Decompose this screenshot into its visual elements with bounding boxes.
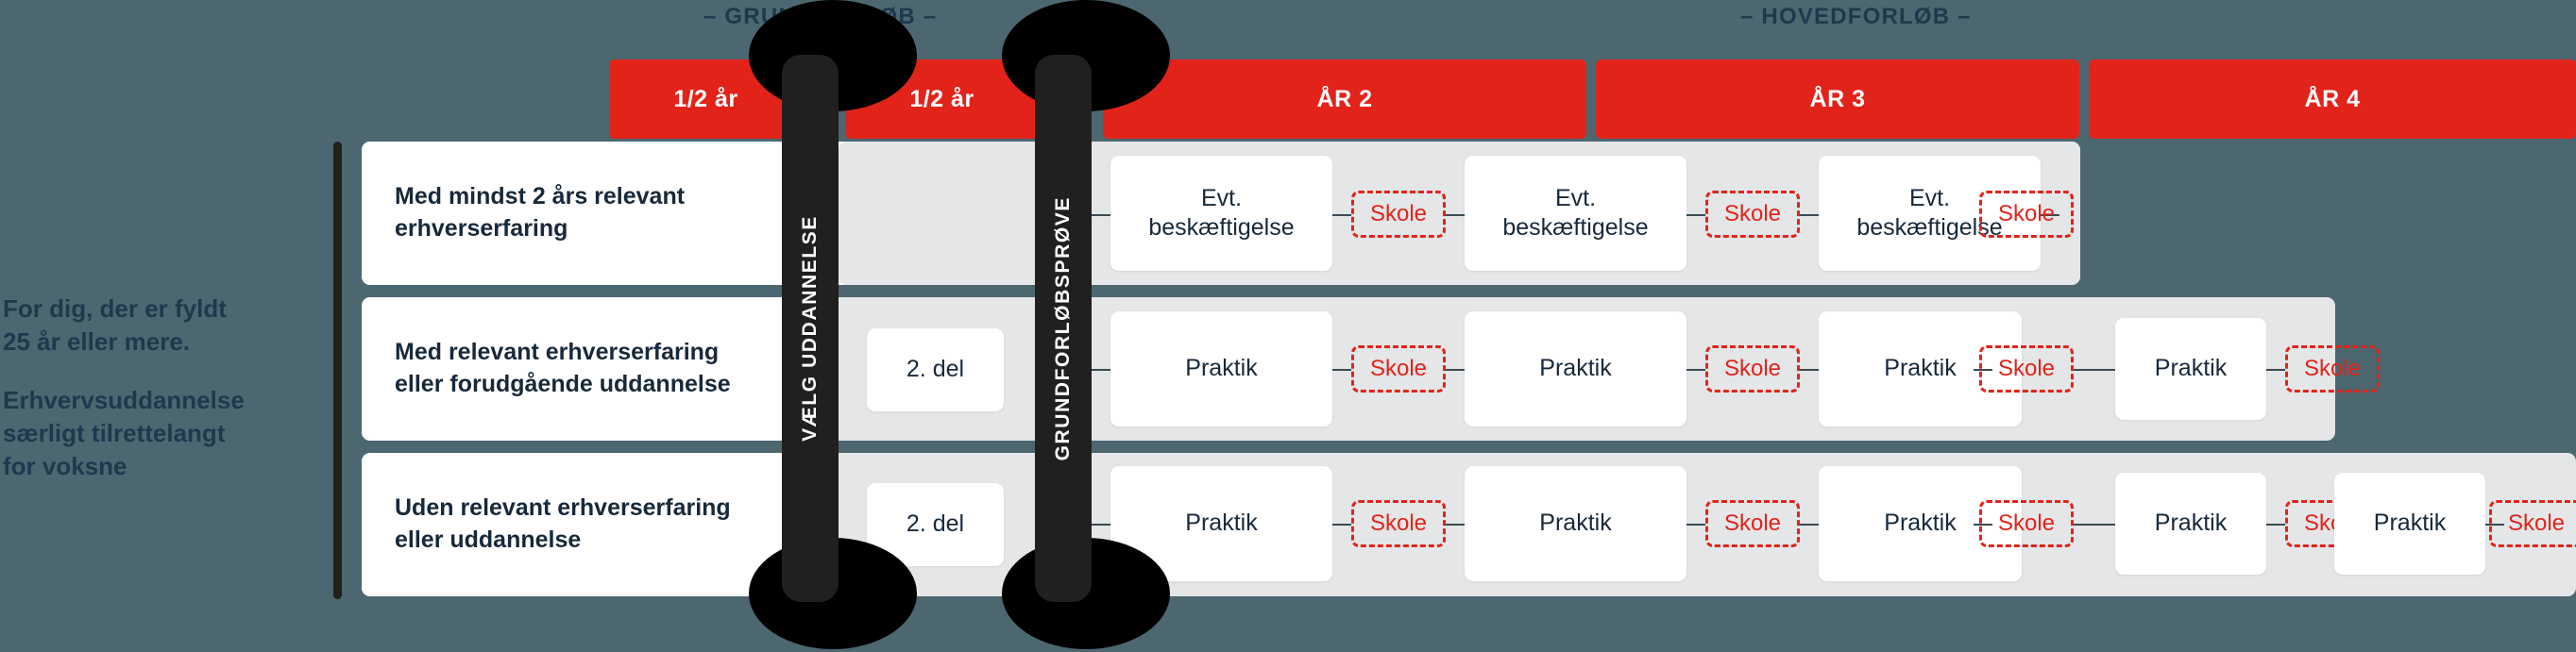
connector <box>1090 214 1112 216</box>
connector <box>1800 214 1819 216</box>
row-label-1-line-1: Med mindst 2 års relevant <box>395 181 685 213</box>
diagram-canvas: – GRUNDFORLØB – – HOVEDFORLØB – 1/2 år 1… <box>0 0 2576 652</box>
card-skole-3[interactable]: Skole <box>1979 191 2074 238</box>
connector <box>1090 524 1112 526</box>
sidebar-line-4: særligt tilrettelangt <box>3 417 314 450</box>
card-skole-2[interactable]: Skole <box>1705 191 1800 238</box>
card-skole-1[interactable]: Skole <box>1351 191 1446 238</box>
card-skole-r3-1[interactable]: Skole <box>1351 500 1446 547</box>
card-evt-beskaeftigelse-1[interactable]: Evt. beskæftigelse <box>1110 156 1332 271</box>
connector <box>1686 524 1705 526</box>
card-skole-r2-2[interactable]: Skole <box>1705 345 1800 393</box>
row-label-3-line-1: Uden relevant erhverserfaring <box>395 493 731 525</box>
card-line-1: Evt. <box>1148 184 1294 213</box>
card-line-1: Evt. <box>1502 184 1648 213</box>
card-praktik-r2-1[interactable]: Praktik <box>1110 311 1332 426</box>
row-label-3: Uden relevant erhverserfaring eller udda… <box>362 453 805 596</box>
card-praktik-r2-4[interactable]: Praktik <box>2115 318 2266 420</box>
connector <box>1800 524 1819 526</box>
card-line-2: beskæftigelse <box>1148 213 1294 242</box>
connector <box>1446 214 1465 216</box>
gate-vaelg-uddannelse[interactable]: VÆLG UDDANNELSE <box>782 55 839 602</box>
card-skole-r2-4[interactable]: Skole <box>2285 345 2380 393</box>
sidebar-line-1: For dig, der er fyldt <box>3 293 314 326</box>
connector <box>1800 369 1819 371</box>
period-bar-4: ÅR 3 <box>1596 59 2079 139</box>
card-second-part-row2[interactable]: 2. del <box>867 328 1004 411</box>
row-label-2-line-2: eller forudgående uddannelse <box>395 369 731 401</box>
card-praktik-r3-5[interactable]: Praktik <box>2334 473 2485 575</box>
gate-grundforloebsproeve[interactable]: GRUNDFORLØBSPRØVE <box>1035 55 1092 602</box>
row-label-2-line-1: Med relevant erhverserfaring <box>395 337 731 369</box>
row-label-3-line-2: eller uddannelse <box>395 525 731 557</box>
connector <box>1332 369 1351 371</box>
connector <box>2074 369 2115 371</box>
connector <box>1686 369 1705 371</box>
connector <box>1686 214 1705 216</box>
connector <box>1090 369 1112 371</box>
card-line-2: beskæftigelse <box>1502 213 1648 242</box>
card-evt-beskaeftigelse-2[interactable]: Evt. beskæftigelse <box>1465 156 1686 271</box>
connector <box>1446 369 1465 371</box>
connector <box>1332 214 1351 216</box>
period-bar-3: ÅR 2 <box>1103 59 1586 139</box>
card-skole-r2-1[interactable]: Skole <box>1351 345 1446 393</box>
card-skole-r3-2[interactable]: Skole <box>1705 500 1800 547</box>
sidebar-line-2: 25 år eller mere. <box>3 326 314 359</box>
row-label-1-line-2: erhverserfaring <box>395 213 685 245</box>
sidebar-line-5: for voksne <box>3 450 314 483</box>
row-label-1: Med mindst 2 års relevant erhverserfarin… <box>362 142 805 285</box>
connector <box>1332 524 1351 526</box>
card-praktik-r3-4[interactable]: Praktik <box>2115 473 2266 575</box>
connector <box>1446 524 1465 526</box>
card-skole-r2-3[interactable]: Skole <box>1979 345 2074 393</box>
card-praktik-r3-2[interactable]: Praktik <box>1465 466 1686 581</box>
sidebar-line-3: Erhvervsuddannelse <box>3 384 314 417</box>
card-praktik-r2-2[interactable]: Praktik <box>1465 311 1686 426</box>
gate-grundforloebsproeve-label: GRUNDFORLØBSPRØVE <box>1052 196 1075 460</box>
left-accent-bar <box>333 142 342 599</box>
sidebar-description: For dig, der er fyldt 25 år eller mere. … <box>3 293 314 484</box>
card-skole-r3-3[interactable]: Skole <box>1979 500 2074 547</box>
connector <box>2266 524 2285 526</box>
gate-vaelg-uddannelse-label: VÆLG UDDANNELSE <box>799 215 822 442</box>
connector <box>2074 524 2115 526</box>
row-label-2: Med relevant erhverserfaring eller forud… <box>362 297 805 441</box>
section-caption-hovedforloeb: – HOVEDFORLØB – <box>1740 4 1972 30</box>
period-bar-5: ÅR 4 <box>2089 59 2576 139</box>
card-skole-r3-5[interactable]: Skole <box>2489 500 2576 547</box>
connector <box>2266 369 2285 371</box>
